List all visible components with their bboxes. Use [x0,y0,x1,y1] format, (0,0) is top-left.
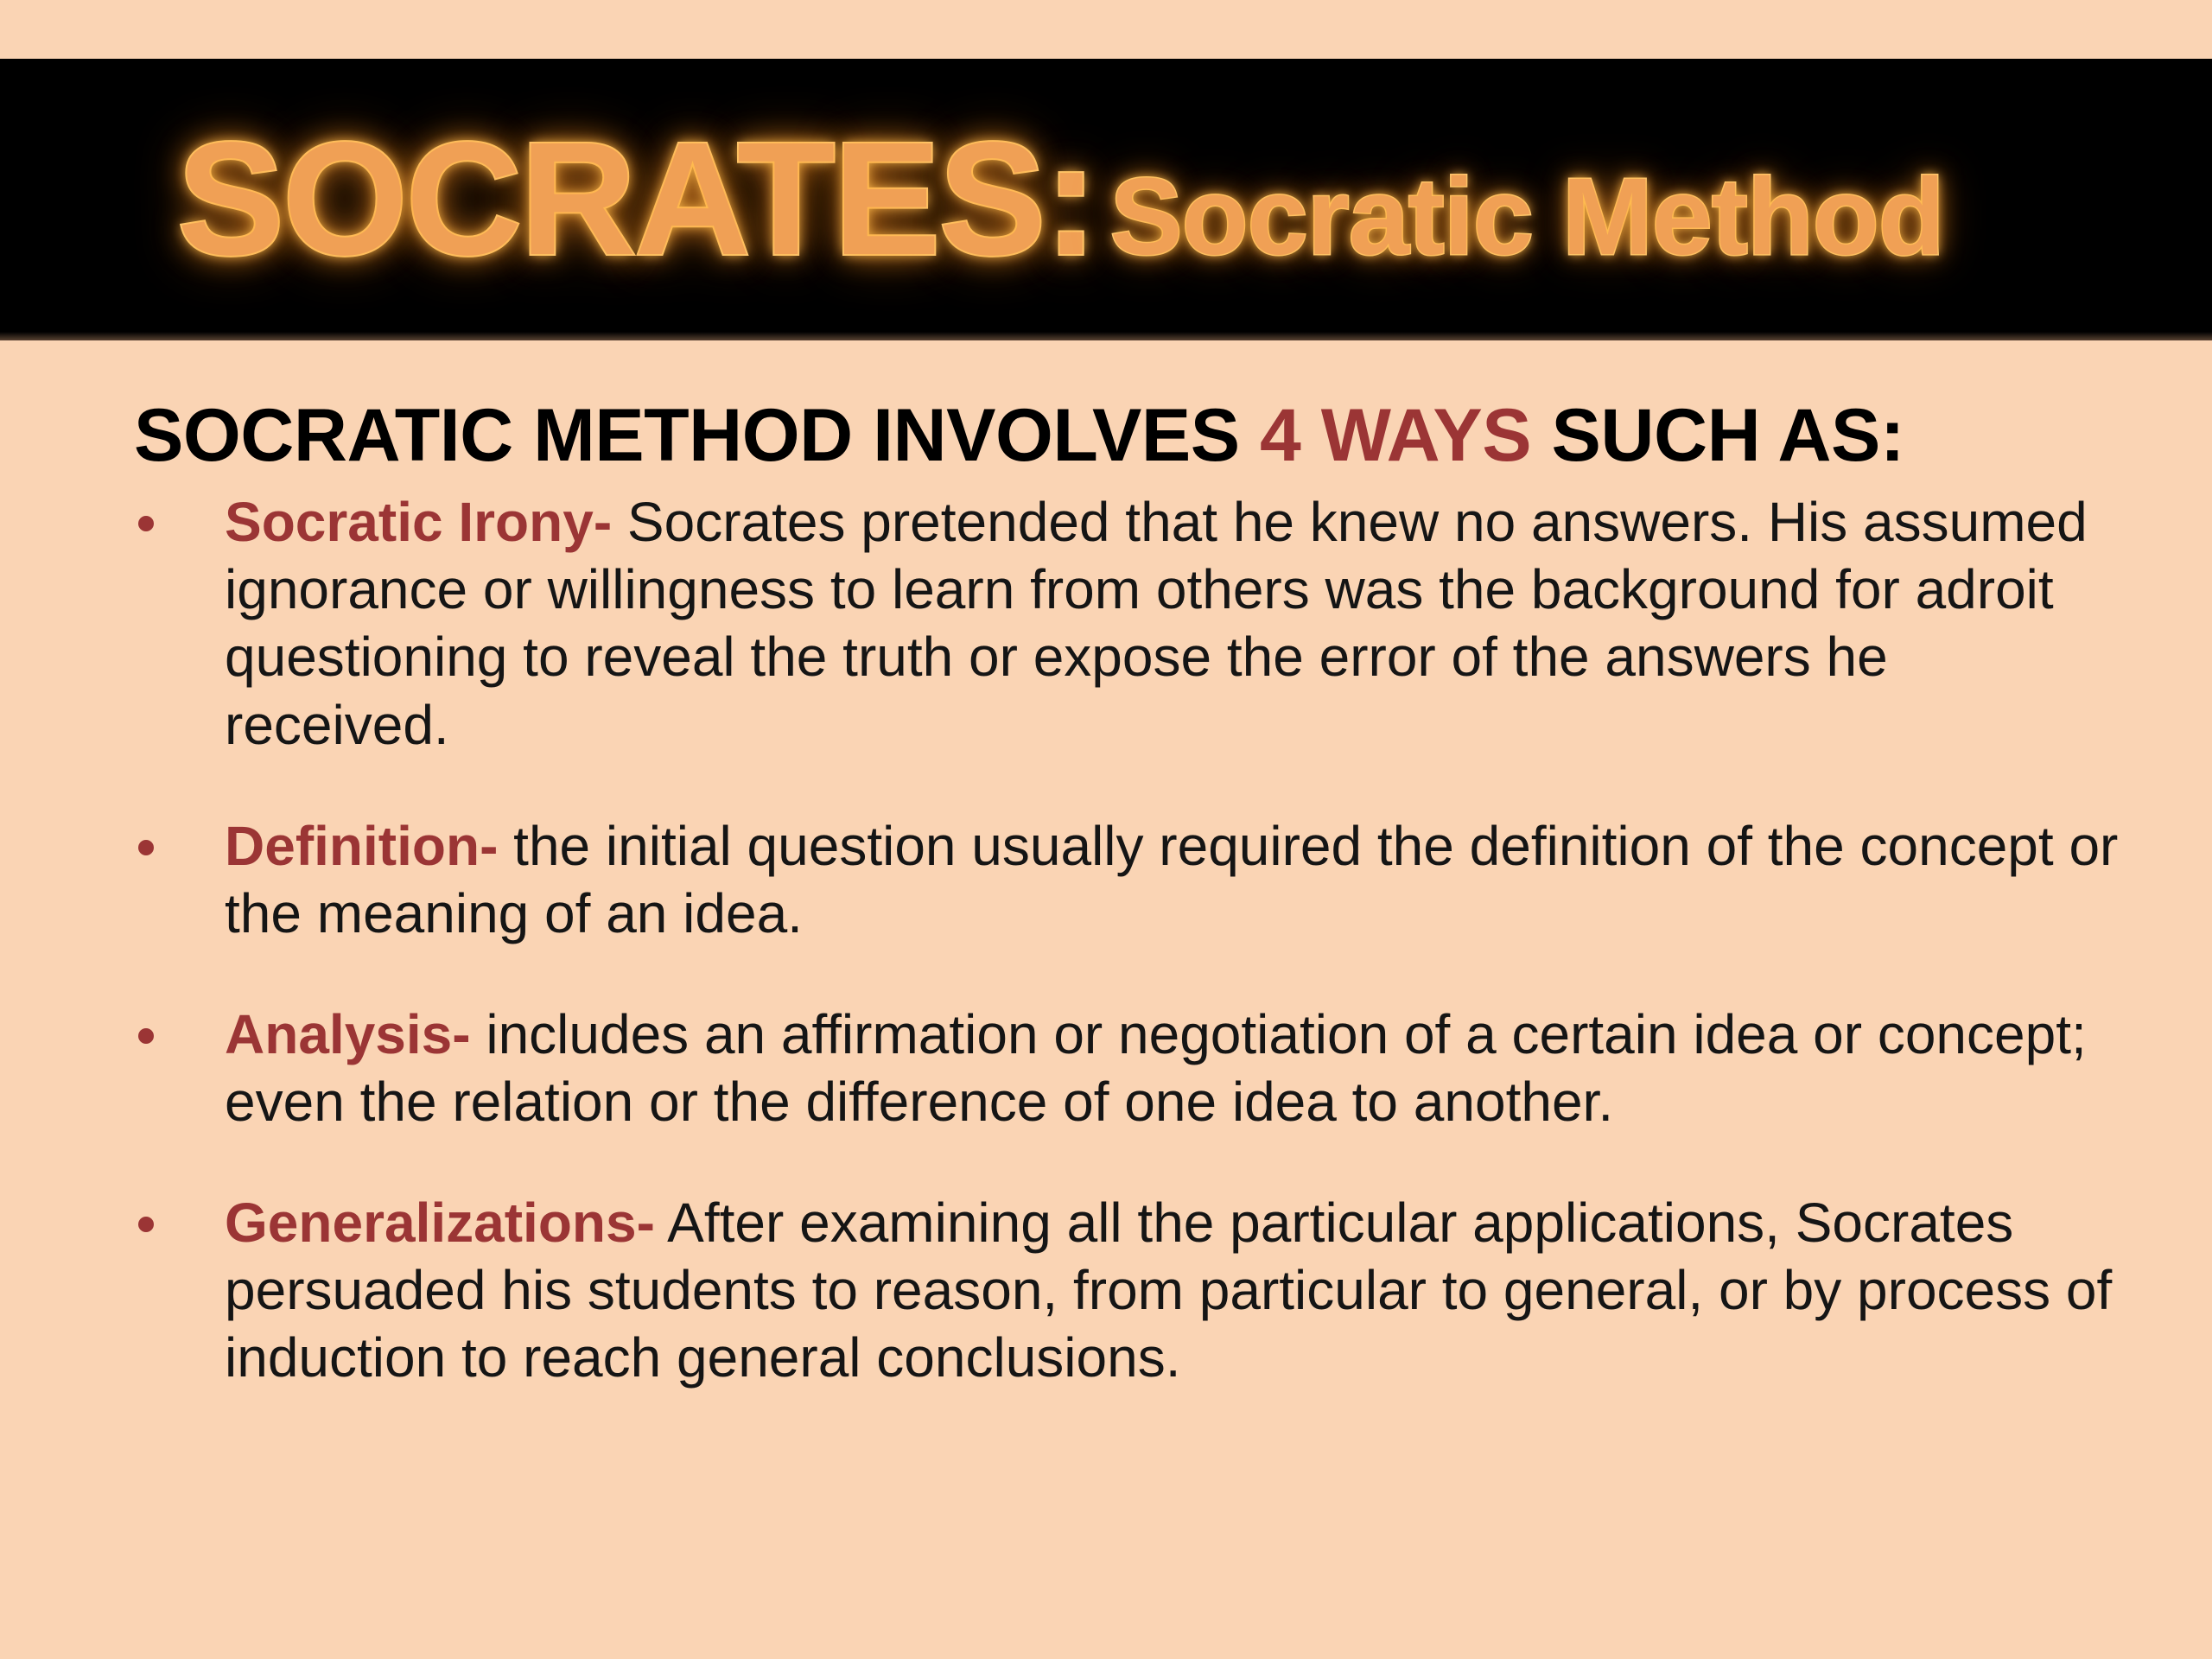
list-item: Definition- the initial question usually… [0,812,2212,947]
bullet-dot-icon [138,840,154,855]
bullet-dot-icon [138,1028,154,1044]
slide-title-subtitle: Socratic Method [1110,162,1944,271]
list-item: Socratic Irony- Socrates pretended that … [0,488,2212,758]
bullet-term: Generalizations- [225,1192,655,1254]
list-item: Analysis- includes an affirmation or neg… [0,1001,2212,1135]
bullet-term: Definition- [225,815,498,877]
heading-part-two: SUCH AS: [1531,394,1904,477]
slide-body: SOCRATIC METHOD INVOLVES 4 WAYS SUCH AS:… [0,340,2212,1391]
heading-part-one: SOCRATIC METHOD INVOLVES [134,394,1260,477]
bullet-dot-icon [138,516,154,531]
heading-highlight-4-ways: 4 WAYS [1260,394,1531,477]
section-heading: SOCRATIC METHOD INVOLVES 4 WAYS SUCH AS: [134,397,2212,474]
title-text-group: SOCRATES: Socratic Method [177,119,1944,280]
bullet-term: Socratic Irony- [225,491,612,553]
bullet-body: includes an affirmation or negotiation o… [225,1003,2087,1133]
bullet-list: Socratic Irony- Socrates pretended that … [0,488,2212,1391]
bullet-term: Analysis- [225,1003,471,1065]
bullet-dot-icon [138,1217,154,1232]
slide-title-main: SOCRATES: [177,119,1096,280]
list-item: Generalizations- After examining all the… [0,1189,2212,1391]
bullet-body: the initial question usually required th… [225,815,2118,944]
title-banner: SOCRATES: Socratic Method [0,59,2212,340]
